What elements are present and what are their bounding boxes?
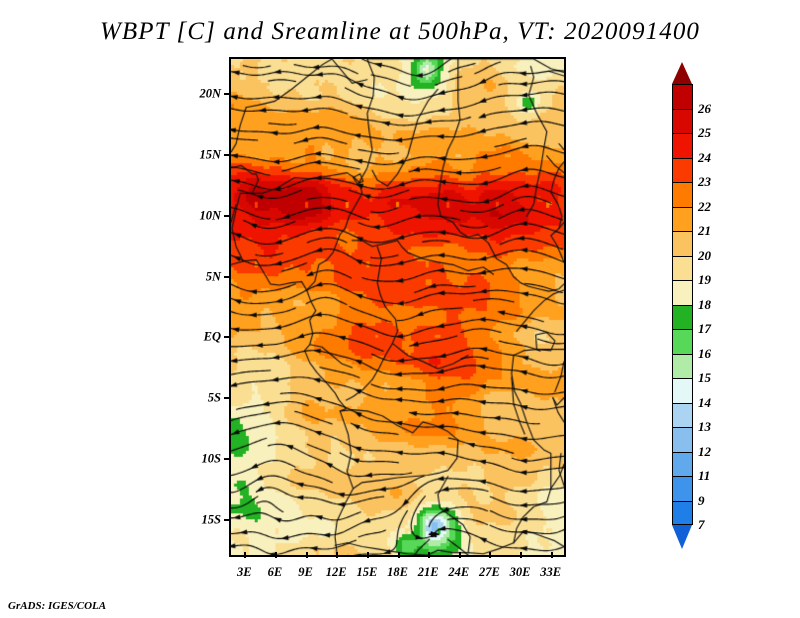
colorbar-cell [672, 182, 693, 207]
colorbar-tick-label: 7 [698, 517, 705, 533]
longitude-tick-mark [551, 552, 553, 558]
longitude-tick-label: 6E [268, 565, 283, 580]
longitude-tick-mark [336, 552, 338, 558]
colorbar: 2625242322212019181716151413121197 [672, 62, 693, 549]
colorbar-cell [672, 403, 693, 428]
latitude-tick-label: EQ [181, 330, 221, 345]
latitude-tick-label: 15S [181, 513, 221, 528]
latitude-tick-mark [224, 336, 230, 338]
longitude-tick-mark [489, 552, 491, 558]
colorbar-cell [672, 305, 693, 330]
colorbar-cell [672, 280, 693, 305]
colorbar-cell [672, 84, 693, 109]
latitude-tick-mark [224, 93, 230, 95]
latitude-tick-label: 5S [181, 391, 221, 406]
longitude-tick-mark [520, 552, 522, 558]
longitude-tick-label: 27E [479, 565, 500, 580]
latitude-tick-label: 15N [181, 147, 221, 162]
longitude-tick-label: 3E [237, 565, 252, 580]
longitude-tick-label: 21E [418, 565, 439, 580]
longitude-tick-mark [275, 552, 277, 558]
colorbar-cell [672, 476, 693, 501]
longitude-tick-mark [428, 552, 430, 558]
colorbar-cell [672, 231, 693, 256]
longitude-tick-label: 18E [387, 565, 408, 580]
colorbar-tick-label: 24 [698, 150, 711, 166]
colorbar-tick-label: 26 [698, 101, 711, 117]
colorbar-tick-label: 20 [698, 248, 711, 264]
colorbar-cell [672, 207, 693, 232]
colorbar-tick-label: 15 [698, 370, 711, 386]
colorbar-tick-label: 19 [698, 272, 711, 288]
colorbar-cell [672, 158, 693, 183]
colorbar-tick-label: 11 [698, 468, 710, 484]
longitude-tick-label: 24E [448, 565, 469, 580]
page-title: WBPT [C] and Sreamline at 500hPa, VT: 20… [0, 18, 800, 46]
colorbar-cell [672, 501, 693, 526]
colorbar-min-extend-arrow [672, 525, 692, 549]
longitude-tick-label: 12E [326, 565, 347, 580]
latitude-tick-mark [224, 154, 230, 156]
colorbar-cell [672, 109, 693, 134]
colorbar-tick-label: 25 [698, 125, 711, 141]
colorbar-cell [672, 256, 693, 281]
colorbar-cell [672, 452, 693, 477]
colorbar-tick-label: 14 [698, 395, 711, 411]
longitude-tick-mark [367, 552, 369, 558]
colorbar-cell [672, 378, 693, 403]
colorbar-cell [672, 329, 693, 354]
colorbar-tick-label: 22 [698, 199, 711, 215]
colorbar-tick-label: 9 [698, 493, 705, 509]
colorbar-tick-label: 23 [698, 174, 711, 190]
longitude-tick-label: 33E [540, 565, 561, 580]
latitude-tick-mark [224, 215, 230, 217]
streamline-layer [231, 59, 564, 555]
longitude-tick-mark [459, 552, 461, 558]
longitude-tick-label: 15E [356, 565, 377, 580]
latitude-tick-label: 5N [181, 269, 221, 284]
latitude-tick-mark [224, 458, 230, 460]
latitude-tick-label: 20N [181, 86, 221, 101]
latitude-tick-mark [224, 519, 230, 521]
longitude-tick-mark [306, 552, 308, 558]
latitude-tick-label: 10S [181, 452, 221, 467]
colorbar-tick-label: 13 [698, 419, 711, 435]
colorbar-tick-label: 12 [698, 444, 711, 460]
colorbar-max-extend-arrow [672, 62, 692, 84]
colorbar-tick-label: 18 [698, 297, 711, 313]
colorbar-cell [672, 133, 693, 158]
colorbar-cell [672, 354, 693, 379]
colorbar-tick-label: 16 [698, 346, 711, 362]
longitude-tick-mark [398, 552, 400, 558]
colorbar-tick-label: 17 [698, 321, 711, 337]
longitude-tick-label: 30E [510, 565, 531, 580]
latitude-tick-mark [224, 397, 230, 399]
map-plot-area [229, 57, 566, 557]
grads-credit: GrADS: IGES/COLA [8, 600, 106, 612]
longitude-tick-label: 9E [298, 565, 313, 580]
latitude-tick-label: 10N [181, 208, 221, 223]
colorbar-cell [672, 427, 693, 452]
longitude-tick-mark [244, 552, 246, 558]
colorbar-tick-label: 21 [698, 223, 711, 239]
latitude-tick-mark [224, 276, 230, 278]
